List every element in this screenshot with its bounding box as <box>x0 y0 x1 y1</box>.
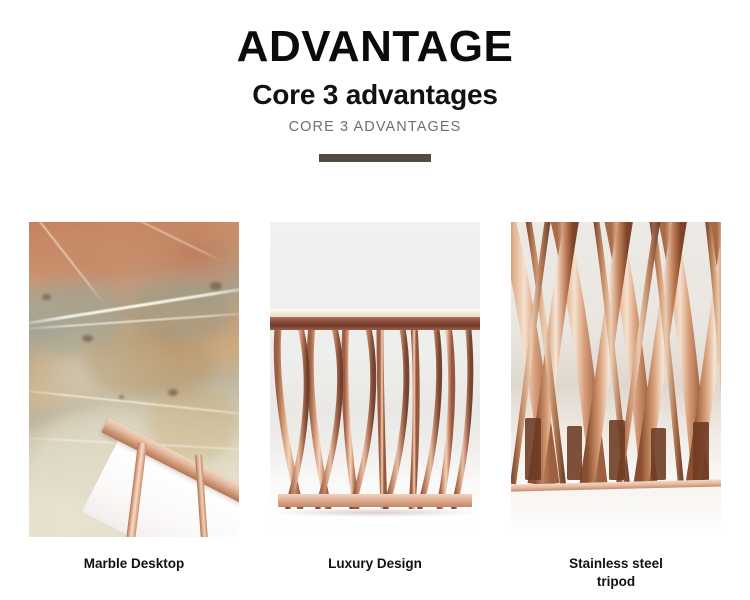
onyx-marble-desktop-photo <box>29 222 239 537</box>
page-eyebrow-text: CORE 3 ADVANTAGES <box>0 119 750 135</box>
marble-speck <box>168 389 178 396</box>
lattice-legs-group <box>270 320 480 509</box>
advantage-card-luxury-design[interactable]: Luxury Design <box>270 222 480 591</box>
advantage-card-row: Marble Desktop <box>0 222 750 591</box>
rose-gold-console-base-photo <box>270 222 480 537</box>
card-caption: Luxury Design <box>280 555 470 573</box>
marble-speck <box>210 282 222 290</box>
advantage-section: ADVANTAGE Core 3 advantages CORE 3 ADVAN… <box>0 0 750 600</box>
stainless-steel-lattice-closeup-photo <box>511 222 721 537</box>
base-plate-shadow <box>274 508 476 517</box>
advantage-card-stainless-steel-tripod[interactable]: Stainless steel tripod <box>511 222 721 591</box>
marble-top-slab <box>270 309 480 317</box>
section-divider-bar <box>319 154 431 162</box>
advantage-card-marble-desktop[interactable]: Marble Desktop <box>29 222 239 591</box>
card-caption: Marble Desktop <box>39 555 229 573</box>
rose-gold-base-plate <box>278 494 471 507</box>
page-title: ADVANTAGE <box>0 24 750 70</box>
page-subtitle: Core 3 advantages <box>0 79 750 111</box>
table-apron-band <box>270 317 480 330</box>
card-caption: Stainless steel tripod <box>521 555 711 591</box>
section-header: ADVANTAGE Core 3 advantages CORE 3 ADVAN… <box>0 0 750 162</box>
divider-wrapper <box>0 154 750 162</box>
